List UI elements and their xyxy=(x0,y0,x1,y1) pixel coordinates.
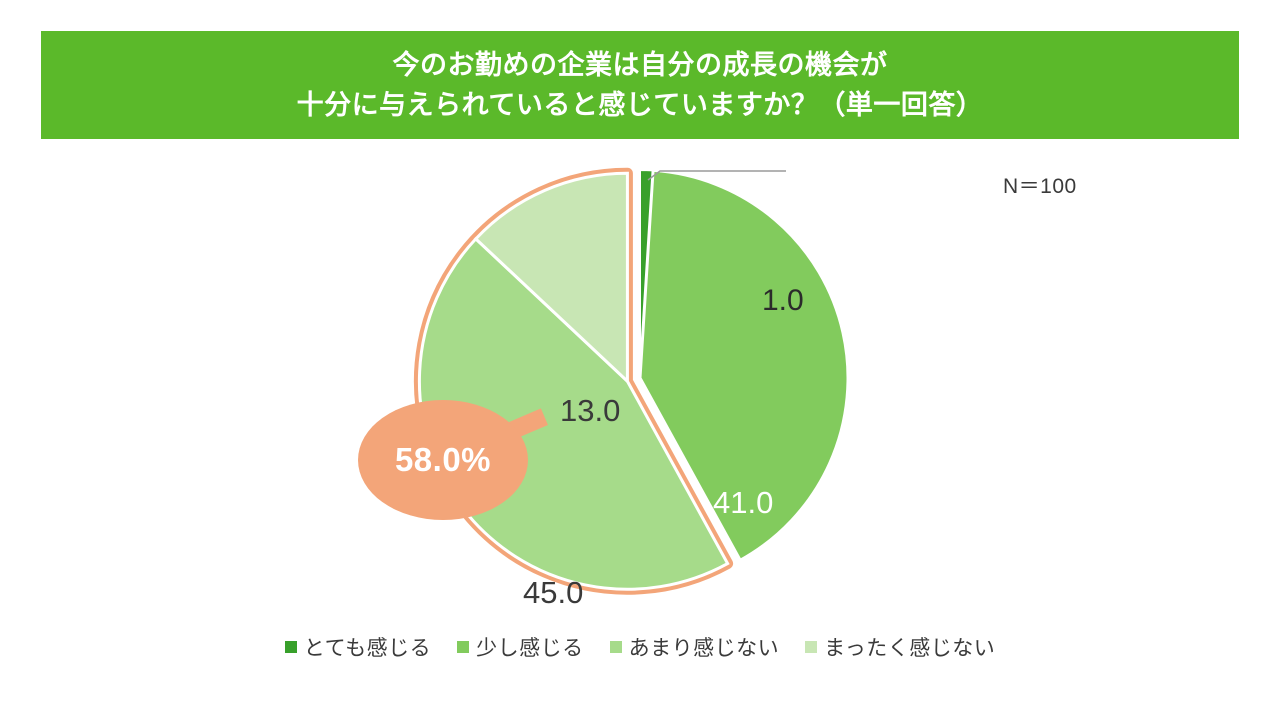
page-title-line-2: 十分に与えられていると感じていますか？（単一回答） xyxy=(297,85,984,125)
highlight-callout-bubble: 58.0% xyxy=(358,400,528,520)
legend-item-mattaku-kanjinai[interactable]: まったく感じない xyxy=(805,632,995,662)
chart-title-banner: 今のお勤めの企業は自分の成長の機会が 十分に与えられていると感じていますか？（単… xyxy=(41,31,1239,139)
legend-label: とても感じる xyxy=(304,632,431,662)
pie-chart-svg xyxy=(0,140,1280,620)
pie-label-sukoshi-kanjiru: 41.0 xyxy=(713,485,773,521)
legend-label: まったく感じない xyxy=(824,632,995,662)
legend-label: 少し感じる xyxy=(476,632,584,662)
chart-legend: とても感じる 少し感じる あまり感じない まったく感じない xyxy=(0,632,1280,662)
highlight-callout-value: 58.0% xyxy=(395,441,491,479)
legend-swatch-icon xyxy=(285,641,297,653)
legend-swatch-icon xyxy=(610,641,622,653)
pie-label-amari-kanjinai: 45.0 xyxy=(523,575,583,611)
pie-label-mattaku-kanjinai: 13.0 xyxy=(560,393,620,429)
legend-swatch-icon xyxy=(805,641,817,653)
legend-label: あまり感じない xyxy=(629,632,780,662)
pie-chart: 1.0 41.0 45.0 13.0 58.0% xyxy=(0,140,1280,620)
legend-item-sukoshi-kanjiru[interactable]: 少し感じる xyxy=(457,632,584,662)
legend-item-totemo-kanjiru[interactable]: とても感じる xyxy=(285,632,431,662)
page-title-line-1: 今のお勤めの企業は自分の成長の機会が xyxy=(393,45,888,85)
legend-item-amari-kanjinai[interactable]: あまり感じない xyxy=(610,632,780,662)
legend-swatch-icon xyxy=(457,641,469,653)
pie-label-totemo-kanjiru: 1.0 xyxy=(762,284,804,318)
